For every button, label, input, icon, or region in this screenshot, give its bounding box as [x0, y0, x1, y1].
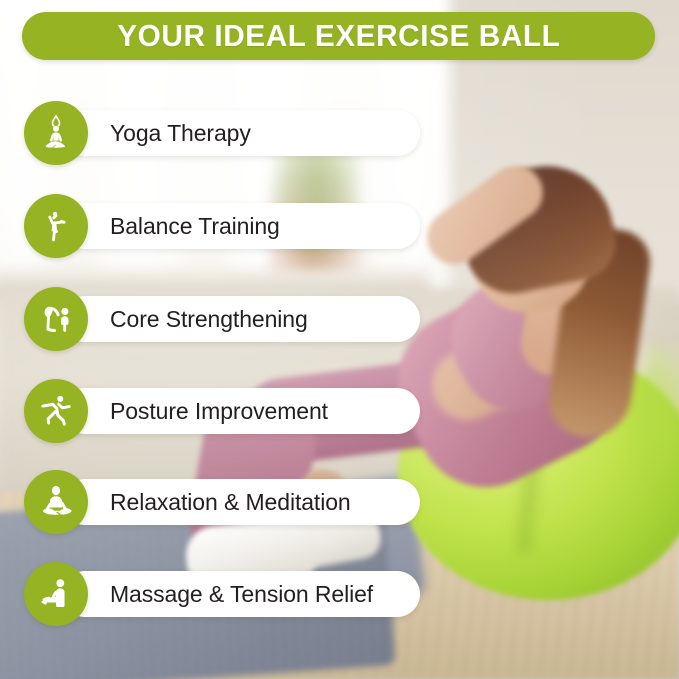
feature-label: Relaxation & Meditation	[110, 489, 351, 516]
feature-pill: Massage & Tension Relief	[62, 571, 420, 617]
feature-pill: Core Strengthening	[62, 296, 420, 342]
product-feature-graphic: YOUR IDEAL EXERCISE BALL Yoga Therapy	[0, 0, 679, 679]
massage-therapy-icon	[24, 562, 88, 626]
feature-pill: Relaxation & Meditation	[62, 479, 420, 525]
feature-label: Core Strengthening	[110, 306, 308, 333]
feature-list: Yoga Therapy Balance Training	[0, 0, 679, 679]
feature-label: Posture Improvement	[110, 398, 328, 425]
warrior-pose-icon	[24, 379, 88, 443]
feature-label: Massage & Tension Relief	[110, 581, 373, 608]
balance-tree-pose-icon	[24, 194, 88, 258]
feature-pill: Posture Improvement	[62, 388, 420, 434]
feature-pill: Yoga Therapy	[62, 110, 420, 156]
feature-pill: Balance Training	[62, 203, 420, 249]
feature-label: Balance Training	[110, 213, 280, 240]
feature-label: Yoga Therapy	[110, 120, 251, 147]
lotus-pose-arms-up-icon	[24, 101, 88, 165]
meditation-seated-icon	[24, 470, 88, 534]
core-crunch-icon	[24, 287, 88, 351]
